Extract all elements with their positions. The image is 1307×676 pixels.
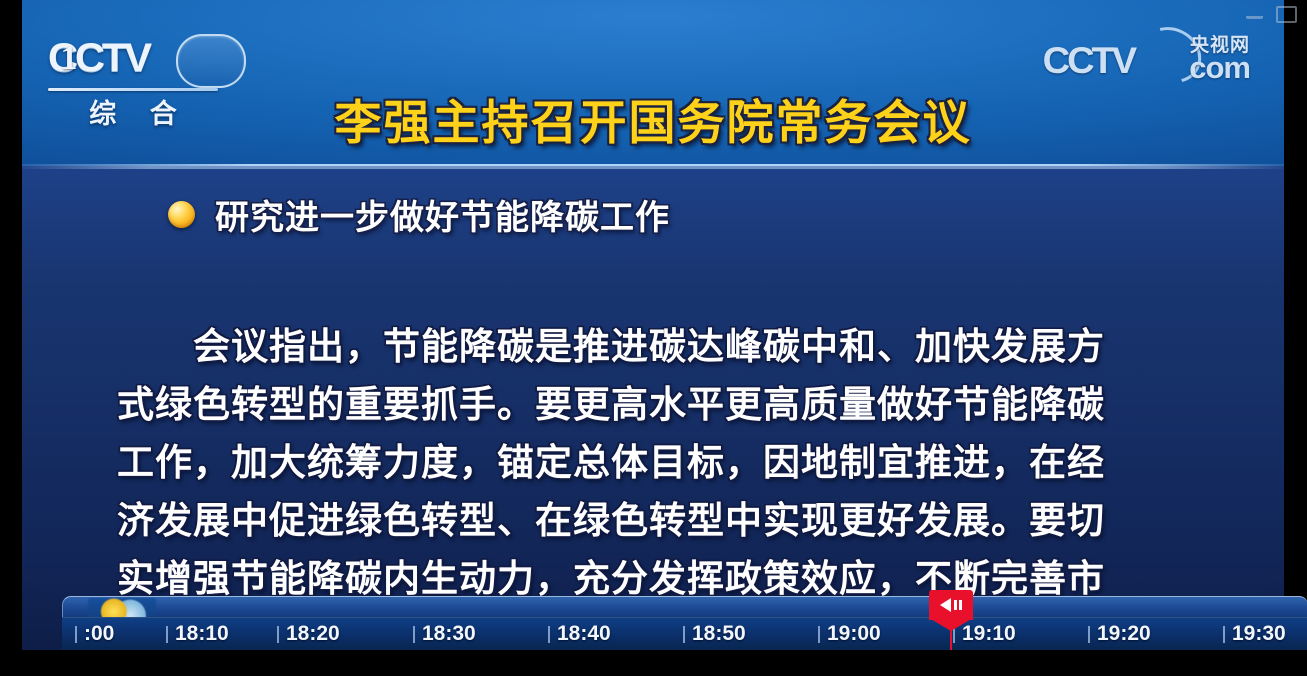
program-block[interactable]: [62, 596, 1307, 619]
body-text: 会议指出，节能降碳是推进碳达峰碳中和、加快发展方 式绿色转型的重要抓手。要更高水…: [117, 318, 1197, 608]
tick-mark-icon: [548, 626, 550, 643]
watermark-row: CCTV 央视网 com: [1044, 26, 1250, 82]
channel-number-oval: [176, 34, 246, 88]
window-controls[interactable]: [1246, 6, 1297, 23]
gold-bullet-icon: [168, 201, 195, 228]
body-line: 式绿色转型的重要抓手。要更高水平更高质量做好节能降碳: [117, 376, 1197, 434]
tick-mark-icon: [1088, 626, 1090, 643]
tick-label: 18:10: [175, 622, 229, 646]
tick-mark-icon: [277, 626, 279, 643]
timeline-tick[interactable]: 19:20: [1088, 622, 1151, 646]
logo-main: CCTV 1: [36, 34, 246, 86]
tick-mark-icon: [683, 626, 685, 643]
video-player-frame[interactable]: CCTV 1 综 合 CCTV 央视网 com 李强主持召开国务院常务会议 研究…: [22, 0, 1284, 650]
tick-mark-icon: [413, 626, 415, 643]
tick-mark-icon: [75, 626, 77, 643]
tick-mark-icon: [166, 626, 168, 643]
subtitle-row: 研究进一步做好节能降碳工作: [168, 190, 670, 239]
tick-mark-icon: [1223, 626, 1225, 643]
channel-name: 综 合: [46, 92, 232, 131]
timeline-tick[interactable]: 18:40: [548, 622, 611, 646]
tick-label: 18:50: [692, 622, 746, 646]
tick-label: 18:20: [286, 622, 340, 646]
tick-label: 19:00: [827, 622, 881, 646]
timeline-tick[interactable]: 18:20: [277, 622, 340, 646]
body-line: 工作，加大统筹力度，锚定总体目标，因地制宜推进，在经: [117, 434, 1197, 492]
timeline-tick[interactable]: 18:50: [683, 622, 746, 646]
cctv-com-watermark: CCTV 央视网 com: [1044, 26, 1250, 82]
tick-label: 18:30: [422, 622, 476, 646]
screen: CCTV 1 综 合 CCTV 央视网 com 李强主持召开国务院常务会议 研究…: [0, 0, 1307, 676]
timeline-ruler[interactable]: :0018:1018:2018:3018:4018:5019:0019:1019…: [62, 617, 1307, 650]
timeline-tick[interactable]: 19:30: [1223, 622, 1286, 646]
timeline-tick[interactable]: 18:10: [166, 622, 229, 646]
timeline-tick[interactable]: :00: [75, 622, 114, 646]
body-line: 济发展中促进绿色转型、在绿色转型中实现更好发展。要切: [117, 492, 1197, 550]
tick-label: 19:20: [1097, 622, 1151, 646]
subtitle-text: 研究进一步做好节能降碳工作: [215, 190, 670, 239]
playhead-marker-icon[interactable]: [949, 596, 953, 650]
tick-label: 19:30: [1232, 622, 1286, 646]
restore-icon[interactable]: [1276, 6, 1297, 23]
rewind-arrow-icon: [940, 598, 951, 612]
channel-number: 1: [36, 34, 102, 84]
pause-bars-icon: [954, 600, 962, 610]
body-line: 会议指出，节能降碳是推进碳达峰碳中和、加快发展方: [117, 318, 1197, 376]
logo-divider: [48, 88, 218, 91]
tick-label: :00: [84, 622, 114, 646]
timeline-tick[interactable]: 18:30: [413, 622, 476, 646]
tick-mark-icon: [818, 626, 820, 643]
epg-timeline[interactable]: :0018:1018:2018:3018:4018:5019:0019:1019…: [0, 596, 1307, 650]
cctv1-logo: CCTV 1 综 合: [36, 34, 246, 126]
watermark-domain: com: [1189, 50, 1250, 86]
playhead-glyph: [929, 590, 973, 620]
tick-label: 18:40: [557, 622, 611, 646]
timeline-tick[interactable]: 19:00: [818, 622, 881, 646]
watermark-cctv-text: CCTV: [1043, 40, 1134, 82]
minimize-icon[interactable]: [1246, 6, 1263, 19]
